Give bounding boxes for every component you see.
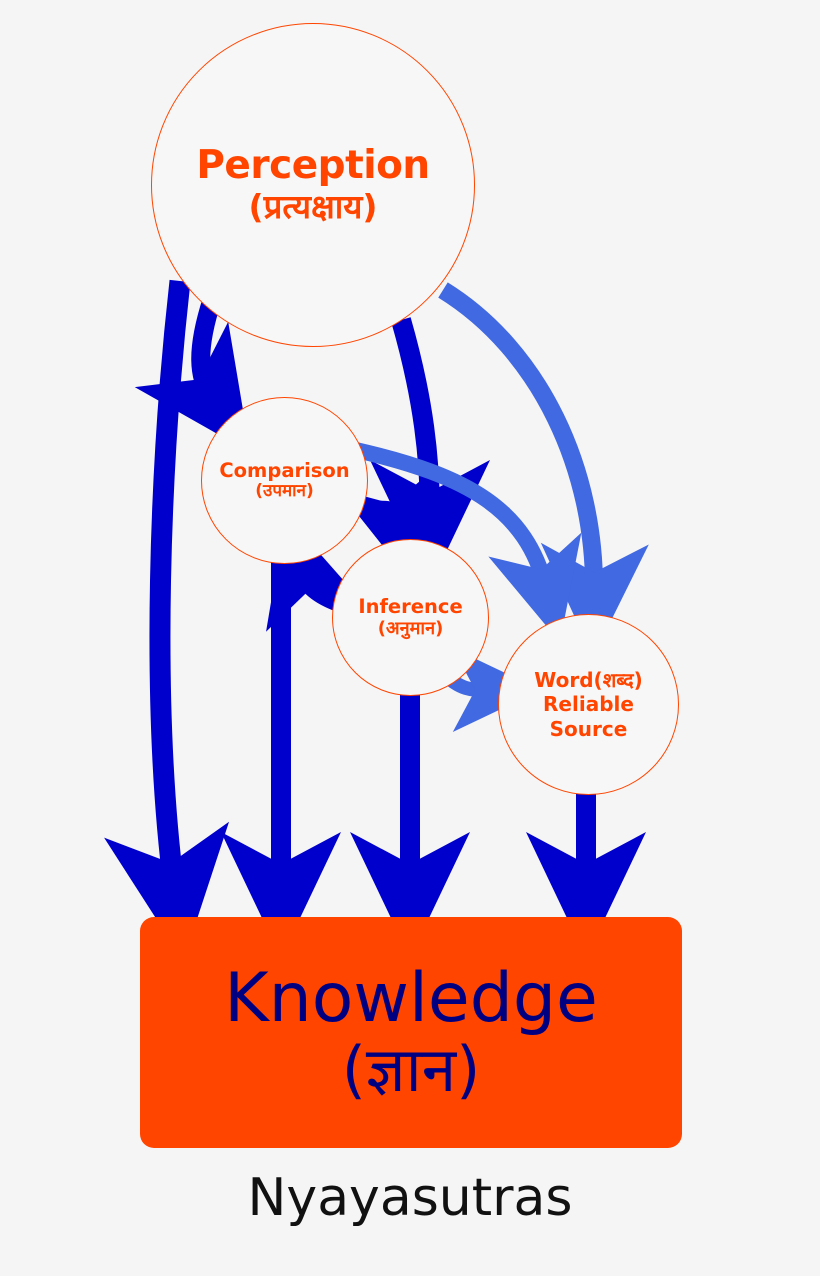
node-word-line2: Reliable [543,693,634,715]
diagram-caption: Nyayasutras [0,1168,820,1228]
edge-perception-word [443,290,594,594]
node-comparison-label-en: Comparison [219,460,349,482]
result-node-knowledge[interactable]: Knowledge (ज्ञान) [140,917,682,1148]
node-word-line3: Source [550,718,628,740]
edge-perception-knowledge [160,281,180,888]
node-word-line1: Word(शब्द) [534,669,642,691]
node-inference-label-sa: (अनुमान) [378,619,444,639]
diagram-canvas: Perception (प्रत्यक्षाय) Comparison (उपम… [0,0,820,1276]
knowledge-label-en: Knowledge [224,963,598,1034]
node-inference-label-en: Inference [358,596,462,618]
node-word-reliable-source[interactable]: Word(शब्द) Reliable Source [498,614,679,795]
node-inference[interactable]: Inference (अनुमान) [332,539,489,696]
node-perception-label-sa: (प्रत्यक्षाय) [249,189,378,226]
node-perception-label-en: Perception [196,144,429,188]
node-comparison-label-sa: (उपमान) [255,482,314,501]
node-comparison[interactable]: Comparison (उपमान) [201,397,368,564]
node-perception[interactable]: Perception (प्रत्यक्षाय) [151,23,475,347]
knowledge-label-sa: (ज्ञान) [342,1037,481,1102]
edge-perception-comparison [201,300,212,398]
edge-perception-inference [401,320,430,516]
